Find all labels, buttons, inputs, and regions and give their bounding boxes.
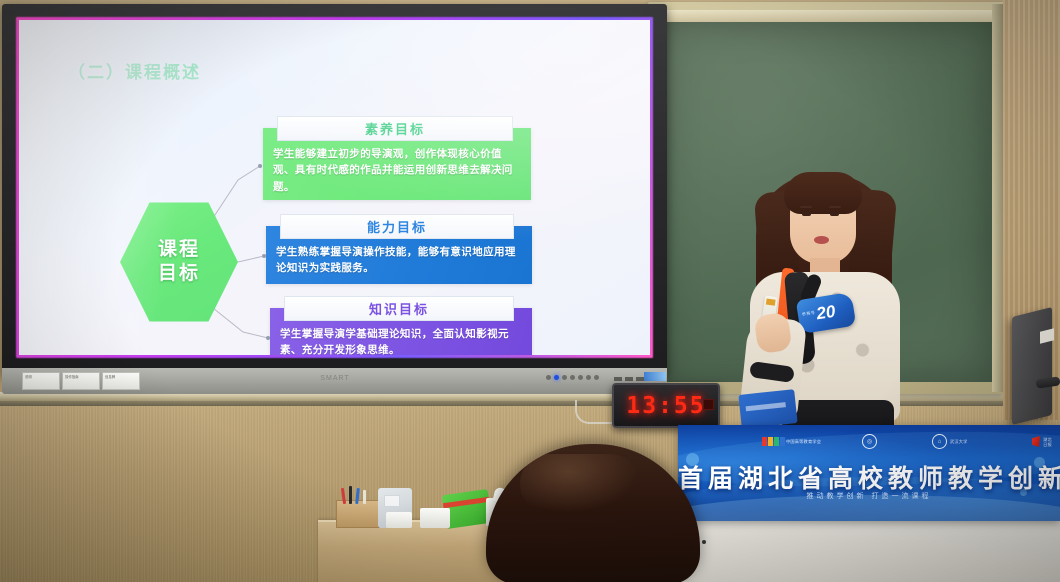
goal-card-header: 能力目标 xyxy=(280,214,514,239)
podium-monitor[interactable] xyxy=(1012,307,1052,425)
goal-card-header: 知识目标 xyxy=(284,296,514,321)
bezel-label-2: 操作指南 xyxy=(62,372,100,390)
eye-right xyxy=(830,212,839,216)
bezel-label-3: 信息牌 xyxy=(102,372,140,390)
goal-card-body: 学生掌握导演学基础理论知识，全面认知影视元素、充分开发形象思维。 xyxy=(280,326,522,355)
organizer-logo-1-caption: 中国高等教育学会 xyxy=(786,439,821,444)
badge-number: 20 xyxy=(815,302,837,325)
organizer-logo-1-icon: 中国高等教育学会 xyxy=(762,433,821,450)
presentation-slide: （二）课程概述 课程 目标 素养目标 学生能够建立初步的导演观，创作体现核心价值… xyxy=(38,40,650,355)
blue-folder xyxy=(738,389,797,429)
goal-card-knowledge: 知识目标 学生掌握导演学基础理论知识，全面认知影视元素、充分开发形象思维。 xyxy=(270,308,532,355)
smartboard-indicator-dots xyxy=(546,375,608,383)
badge-caption: 参赛号 xyxy=(802,310,816,318)
slide-title: （二）课程概述 xyxy=(68,58,201,83)
white-box-small xyxy=(386,512,412,528)
media-logo-caption: 湖北日报 xyxy=(1043,437,1053,447)
center-node-hexagon: 课程 目标 xyxy=(120,200,238,324)
center-node-line-1: 课程 xyxy=(158,239,200,260)
center-node-line-2: 目标 xyxy=(158,263,200,284)
eyebrow-right xyxy=(829,206,841,208)
goal-card-literacy: 素养目标 学生能够建立初步的导演观，创作体现核心价值观、具有时代感的作品并能运用… xyxy=(263,128,531,200)
goal-card-body: 学生熟练掌握导演操作技能，能够有意识地应用理论知识为实践服务。 xyxy=(276,244,522,277)
lower-white-wall xyxy=(678,518,1060,582)
competition-banner: 中国高等教育学会 ◎ ⌂ 武汉大学 湖北日报 首届湖北省高校教师教学创新大赛 推… xyxy=(678,425,1060,521)
banner-logo-row: 中国高等教育学会 ◎ ⌂ 武汉大学 湖北日报 xyxy=(762,433,1022,453)
goal-card-ability: 能力目标 学生熟练掌握导演操作技能，能够有意识地应用理论知识为实践服务。 xyxy=(266,226,532,284)
classroom-scene: （二）课程概述 课程 目标 素养目标 学生能够建立初步的导演观，创作体现核心价值… xyxy=(0,0,1060,582)
university-logo-caption: 武汉大学 xyxy=(950,439,968,444)
smartboard-screen[interactable]: （二）课程概述 课程 目标 素养目标 学生能够建立初步的导演观，创作体现核心价值… xyxy=(19,20,650,355)
pens xyxy=(340,486,374,504)
clock-time: 13:55 xyxy=(626,393,705,419)
smartboard-brand-logo: SMART xyxy=(300,374,370,384)
goal-card-header: 素养目标 xyxy=(277,116,513,141)
chalkboard-top-strip xyxy=(655,10,997,22)
front-desk xyxy=(318,520,506,582)
smartboard-corner-tag xyxy=(644,372,666,381)
clock-indicator-icon xyxy=(703,399,714,410)
white-box xyxy=(420,508,450,528)
goal-card-body: 学生能够建立初步的导演观，创作体现核心价值观、具有时代感的作品并能运用创新思维去… xyxy=(273,146,521,195)
eye-left xyxy=(802,212,811,216)
digital-clock: 13:55 xyxy=(612,383,720,428)
teacher-figure: 参赛号 20 xyxy=(742,168,910,448)
banner-title: 首届湖北省高校教师教学创新大赛 xyxy=(678,459,1060,495)
university-logo-icon: ⌂ 武汉大学 xyxy=(932,433,968,450)
wall-screw-hole xyxy=(702,540,706,544)
mouth xyxy=(814,236,829,244)
pen-holder xyxy=(336,500,380,528)
media-logo-icon: 湖北日报 xyxy=(1032,433,1053,450)
chalkboard-right-rail xyxy=(992,4,1003,392)
organizer-logo-2-icon: ◎ xyxy=(862,433,880,450)
hair-fringe xyxy=(784,172,862,214)
bezel-label-1: 说明 xyxy=(22,372,60,390)
eyebrow-left xyxy=(800,206,812,208)
